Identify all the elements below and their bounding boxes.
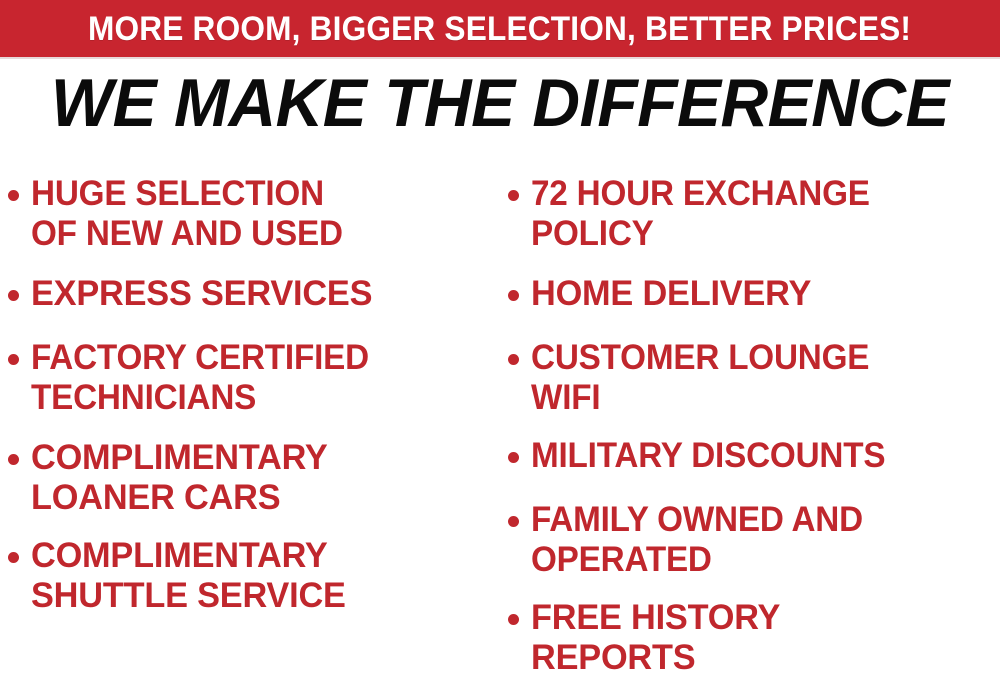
list-item-label: 72 HOUR EXCHANGE POLICY <box>531 174 870 254</box>
benefits-column-right: 72 HOUR EXCHANGE POLICY HOME DELIVERY CU… <box>508 152 1000 694</box>
list-item-label: FAMILY OWNED AND OPERATED <box>531 500 863 580</box>
bullet-dot-icon <box>508 190 519 201</box>
bullet-dot-icon <box>508 614 519 625</box>
bullet-dot-icon <box>8 552 19 563</box>
bullet-dot-icon <box>8 190 19 201</box>
banner-bottom-edge <box>0 57 1000 59</box>
list-item: COMPLIMENTARY SHUTTLE SERVICE <box>8 536 352 616</box>
list-item: FREE HISTORY REPORTS <box>508 598 785 678</box>
promo-poster: MORE ROOM, BIGGER SELECTION, BETTER PRIC… <box>0 0 1000 694</box>
bullet-dot-icon <box>508 516 519 527</box>
list-item: 72 HOUR EXCHANGE POLICY <box>508 174 888 254</box>
bullet-dot-icon <box>8 454 19 465</box>
list-item-label: HOME DELIVERY <box>531 274 811 314</box>
bullet-dot-icon <box>8 290 19 301</box>
bullet-dot-icon <box>508 290 519 301</box>
list-item-label: COMPLIMENTARY LOANER CARS <box>31 438 328 518</box>
list-item: CUSTOMER LOUNGE WIFI <box>508 338 887 418</box>
bullet-dot-icon <box>8 354 19 365</box>
list-item-label: FACTORY CERTIFIED TECHNICIANS <box>31 338 369 418</box>
list-item-label: COMPLIMENTARY SHUTTLE SERVICE <box>31 536 346 616</box>
benefits-columns: HUGE SELECTION OF NEW AND USED EXPRESS S… <box>0 152 1000 694</box>
list-item: FACTORY CERTIFIED TECHNICIANS <box>8 338 387 418</box>
list-item: HUGE SELECTION OF NEW AND USED <box>8 174 359 254</box>
bullet-dot-icon <box>508 452 519 463</box>
list-item: COMPLIMENTARY LOANER CARS <box>8 438 334 518</box>
banner-headline-text: MORE ROOM, BIGGER SELECTION, BETTER PRIC… <box>88 12 911 46</box>
list-item-label: HUGE SELECTION OF NEW AND USED <box>31 174 343 254</box>
list-item-label: EXPRESS SERVICES <box>31 274 372 314</box>
list-item-label: MILITARY DISCOUNTS <box>531 436 885 476</box>
list-item: FAMILY OWNED AND OPERATED <box>508 500 880 580</box>
headline-container: WE MAKE THE DIFFERENCE <box>0 64 1000 142</box>
list-item-label: FREE HISTORY REPORTS <box>531 598 780 678</box>
benefits-column-left: HUGE SELECTION OF NEW AND USED EXPRESS S… <box>8 152 500 694</box>
bullet-dot-icon <box>508 354 519 365</box>
list-item: MILITARY DISCOUNTS <box>508 436 904 476</box>
list-item: HOME DELIVERY <box>508 274 817 314</box>
page-title: WE MAKE THE DIFFERENCE <box>51 69 949 137</box>
list-item: EXPRESS SERVICES <box>8 274 379 314</box>
list-item-label: CUSTOMER LOUNGE WIFI <box>531 338 869 418</box>
top-banner: MORE ROOM, BIGGER SELECTION, BETTER PRIC… <box>0 0 1000 57</box>
